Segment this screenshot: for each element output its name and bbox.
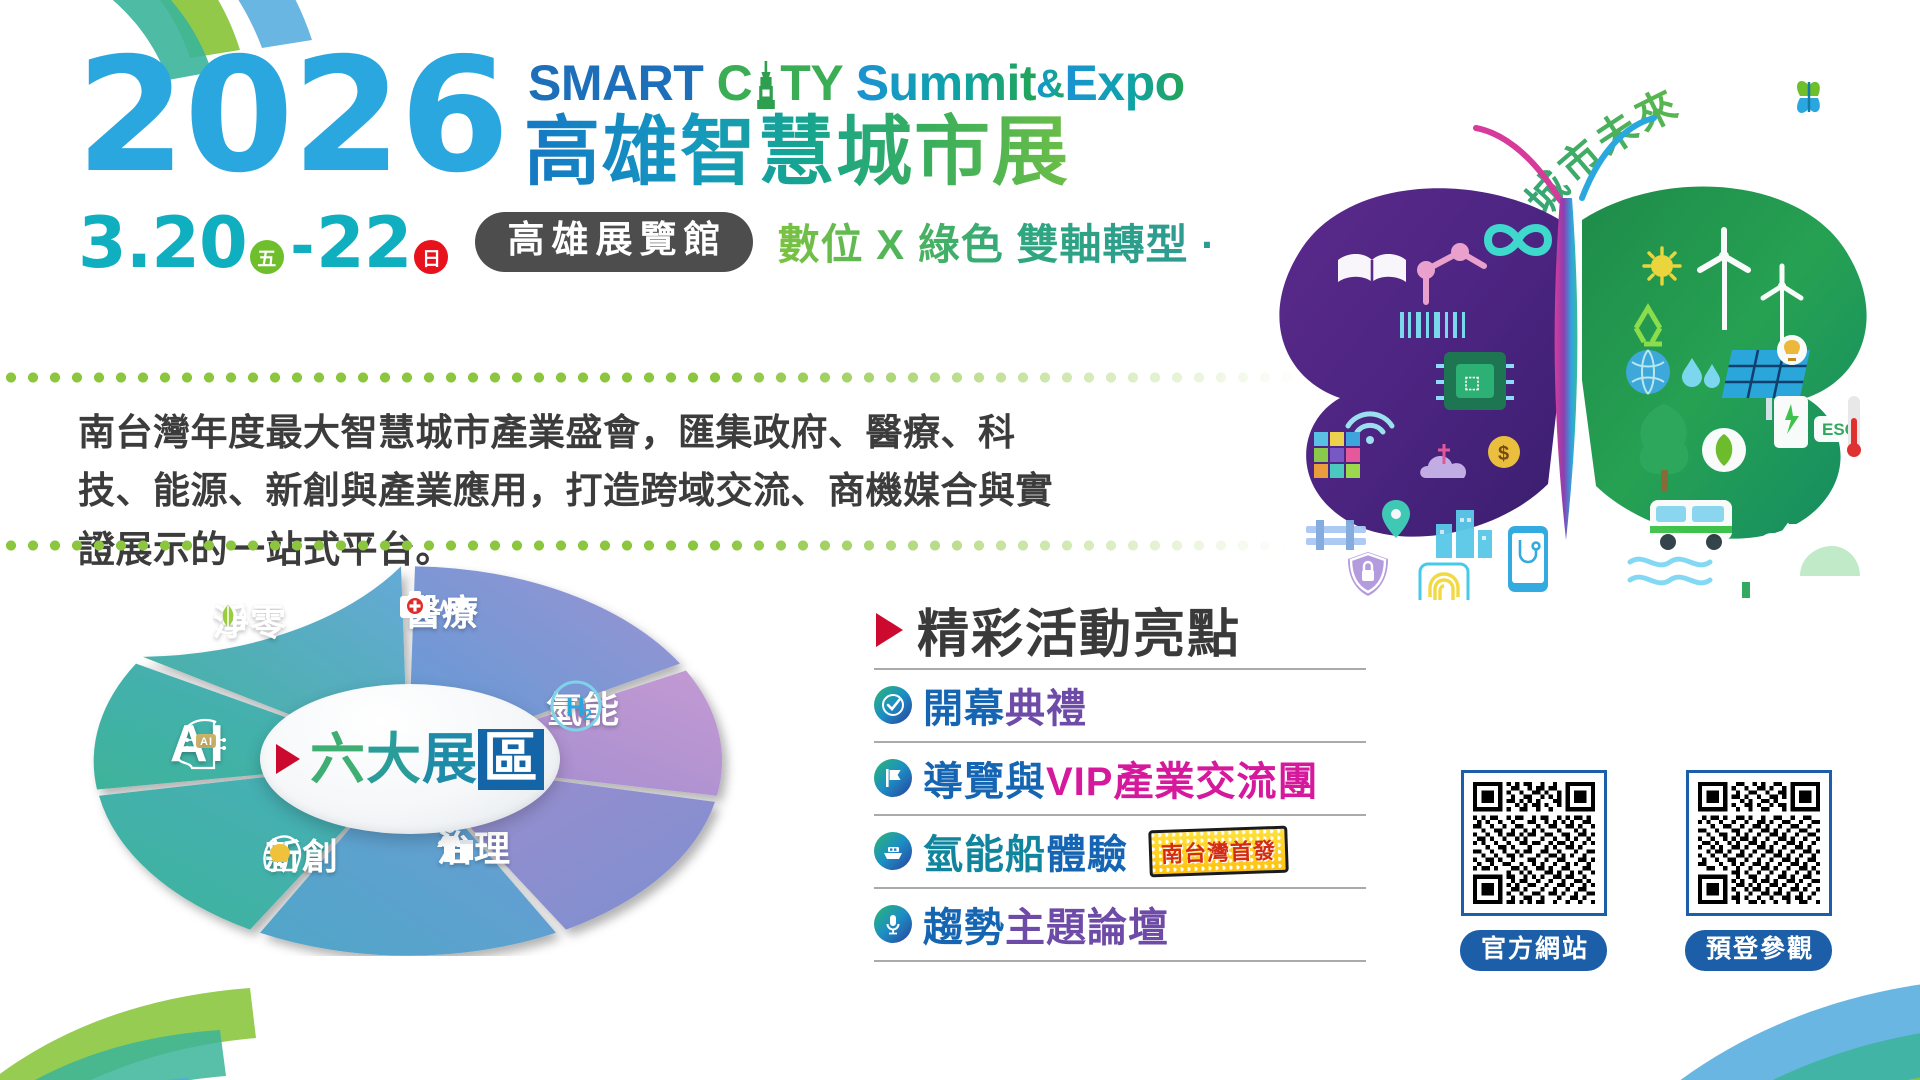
tower-icon <box>753 61 779 109</box>
poster-canvas: 2026 SMART CTY Summit&Expo 高雄智慧城市展 啟動城市未… <box>0 0 1920 1080</box>
arrow-right-icon <box>276 744 300 774</box>
smart-city-butterfly-illustration: ⬚ $ 5G AIoT <box>1230 80 1920 600</box>
list-item[interactable]: 開幕典禮 <box>874 668 1366 741</box>
list-item-label: 趨勢主題論壇 <box>923 895 1169 953</box>
svg-text:2: 2 <box>583 707 593 724</box>
qr-col-official-site: 官方網站 <box>1460 770 1607 971</box>
event-title-zh: 高雄智慧城市展 <box>524 108 1070 198</box>
hl-text-a: 氫能船 <box>923 833 1046 877</box>
center-char-1: 六 <box>310 732 366 787</box>
hl-text-a: 開幕 <box>923 687 1005 731</box>
center-char-2: 大 <box>366 732 422 787</box>
brand-lockup-en: SMART CTY Summit&Expo <box>528 58 1185 109</box>
hl-text-a: 趨勢 <box>923 906 1005 950</box>
flag-icon <box>874 759 912 797</box>
highlights-list: 開幕典禮 導覽與VIP產業交流團 氫能船體驗 南台灣首發 趨勢主題論壇 <box>874 668 1366 962</box>
wheel-center-label: 六大展區 <box>310 729 544 790</box>
wheel-center-badge[interactable]: 六大展區 <box>260 684 560 834</box>
intro-paragraph: 南台灣年度最大智慧城市產業盛會，匯集政府、醫療、科技、能源、新創與產業應用，打造… <box>78 404 1078 579</box>
date-start: 3.20 <box>78 208 247 278</box>
qr-code-icon[interactable] <box>1461 770 1607 916</box>
hl-text-a: 導覽與 <box>923 760 1046 804</box>
list-item[interactable]: 導覽與VIP產業交流團 <box>874 741 1366 814</box>
list-item-label: 開幕典禮 <box>923 676 1087 734</box>
highlights-title: 精彩活動亮點 <box>917 592 1241 667</box>
six-zones-wheel: 淨零 醫療 H2 氫能 治理 新創 <box>78 566 738 956</box>
list-item-label: 氫能船體驗 <box>923 822 1128 880</box>
brand-city-post: TY <box>780 55 842 111</box>
list-item-label: 導覽與VIP產業交流團 <box>923 749 1318 807</box>
event-date-row: 3.20 五 - 22 日 高雄展覽館 數位 X 綠色 雙軸轉型 · <box>78 208 1216 278</box>
qr-col-preregister: 預登參觀 <box>1685 770 1832 971</box>
arrow-right-icon <box>876 613 903 647</box>
microphone-icon <box>874 905 912 943</box>
preregister-button[interactable]: 預登參觀 <box>1685 930 1832 971</box>
hl-text-b: 體驗 <box>1046 833 1128 877</box>
hl-text-b: 典禮 <box>1005 687 1087 731</box>
svg-text:$: $ <box>1498 443 1509 465</box>
zone-hydrogen[interactable]: H2 氫能 <box>546 678 620 733</box>
divider-dotted-top <box>0 372 1300 383</box>
brand-ampersand: & <box>1036 62 1064 106</box>
hl-text-b: VIP產業交流團 <box>1046 760 1318 804</box>
venue-pill: 高雄展覽館 <box>475 212 753 272</box>
zone-medical[interactable]: 醫療 <box>398 584 479 636</box>
brand-smart: SMART <box>528 55 703 111</box>
zone-startup[interactable]: 新創 <box>258 828 339 880</box>
brand-city-pre: C <box>717 55 753 111</box>
svg-text:AI: AI <box>200 736 213 748</box>
event-tagline: 數位 X 綠色 雙軸轉型 · <box>777 220 1216 270</box>
zone-ai[interactable]: AI AI <box>170 714 226 774</box>
hl-text-b: 主題論壇 <box>1005 906 1169 950</box>
qr-code-group: 官方網站 <box>1460 770 1832 971</box>
list-item[interactable]: 趨勢主題論壇 <box>874 887 1366 962</box>
center-char-3: 展 <box>422 732 478 787</box>
brand-expo: Expo <box>1064 55 1184 111</box>
event-year: 2026 <box>76 52 508 182</box>
first-in-south-badge: 南台灣首發 <box>1148 825 1289 877</box>
list-item[interactable]: 氫能船體驗 南台灣首發 <box>874 814 1366 887</box>
check-clock-icon <box>874 686 912 724</box>
qr-code-icon[interactable] <box>1686 770 1832 916</box>
boat-icon <box>874 832 912 870</box>
svg-text:⬚: ⬚ <box>1464 373 1480 392</box>
center-char-4: 區 <box>478 729 544 790</box>
official-site-button[interactable]: 官方網站 <box>1460 930 1607 971</box>
weekday-badge-start: 五 <box>250 240 284 274</box>
date-end: 22 <box>316 208 411 278</box>
divider-dotted-bottom <box>0 540 1290 551</box>
weekday-badge-end: 日 <box>414 240 448 274</box>
brand-summit: Summit <box>856 55 1036 111</box>
highlights-heading: 精彩活動亮點 <box>876 592 1241 667</box>
date-dash: - <box>289 208 316 278</box>
zone-net-zero[interactable]: 淨零 <box>206 594 287 646</box>
